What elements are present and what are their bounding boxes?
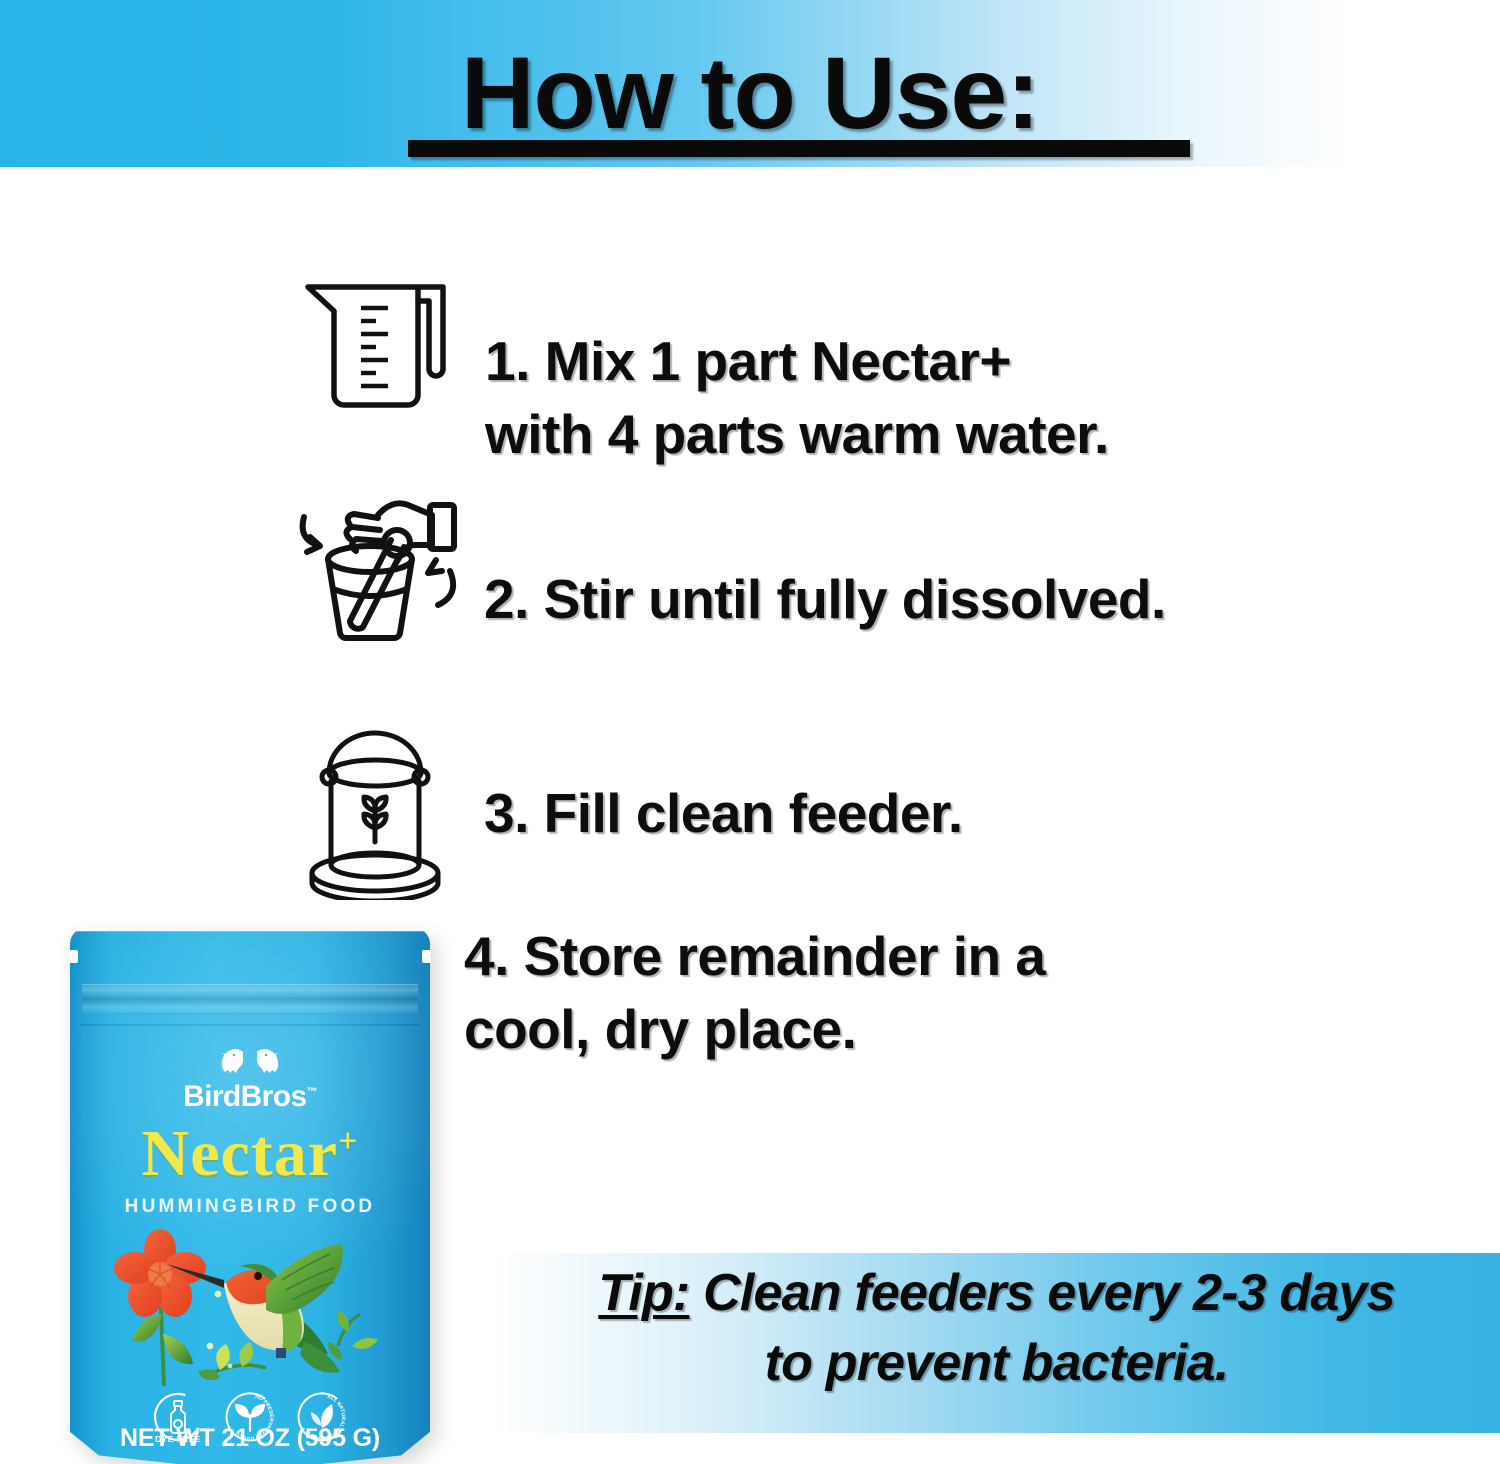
stirring-glass-icon (292, 485, 462, 650)
step-text-3: 3. Fill clean feeder. (462, 725, 963, 850)
title-underline (408, 140, 1190, 157)
product-name: Nectar+ (70, 1116, 430, 1192)
tear-notch-left (69, 950, 78, 963)
trademark-symbol: ™ (307, 1086, 317, 1098)
step-text-1: 1. Mix 1 part Nectar+ with 4 parts warm … (465, 273, 1109, 470)
hummingbird-and-flower-illustration (102, 1228, 398, 1396)
net-weight-label: NET WT 21 OZ (595 G) (70, 1424, 430, 1453)
two-birds-icon (70, 1046, 430, 1076)
step-item-2: 2. Stir until fully dissolved. (292, 485, 1166, 650)
product-package: BirdBros™ Nectar+ HUMMINGBIRD FOOD (70, 928, 430, 1464)
tip-body-text: Clean feeders every 2-3 days to prevent … (689, 1264, 1394, 1392)
product-plus-symbol: + (338, 1123, 358, 1160)
zipper-seal-line (80, 1024, 420, 1026)
brand-name-text: BirdBros (183, 1080, 307, 1113)
product-name-text: Nectar (142, 1117, 339, 1190)
step-item-1: 1. Mix 1 part Nectar+ with 4 parts warm … (295, 273, 1109, 470)
pouch-shape: BirdBros™ Nectar+ HUMMINGBIRD FOOD (70, 928, 430, 1464)
measuring-cup-icon (295, 273, 465, 423)
tip-lead-label: Tip: (598, 1264, 689, 1322)
brand-name: BirdBros™ (70, 1080, 430, 1114)
tear-notch-right (422, 950, 431, 963)
tip-text: Tip: Clean feeders every 2-3 days to pre… (493, 1259, 1500, 1398)
zipper-seal (82, 984, 418, 1014)
step-text-2: 2. Stir until fully dissolved. (462, 485, 1166, 636)
product-subtitle: HUMMINGBIRD FOOD (70, 1196, 430, 1218)
step-item-3: 3. Fill clean feeder. (292, 725, 963, 900)
bird-feeder-icon (292, 725, 462, 900)
page-title: How to Use: (0, 42, 1500, 144)
